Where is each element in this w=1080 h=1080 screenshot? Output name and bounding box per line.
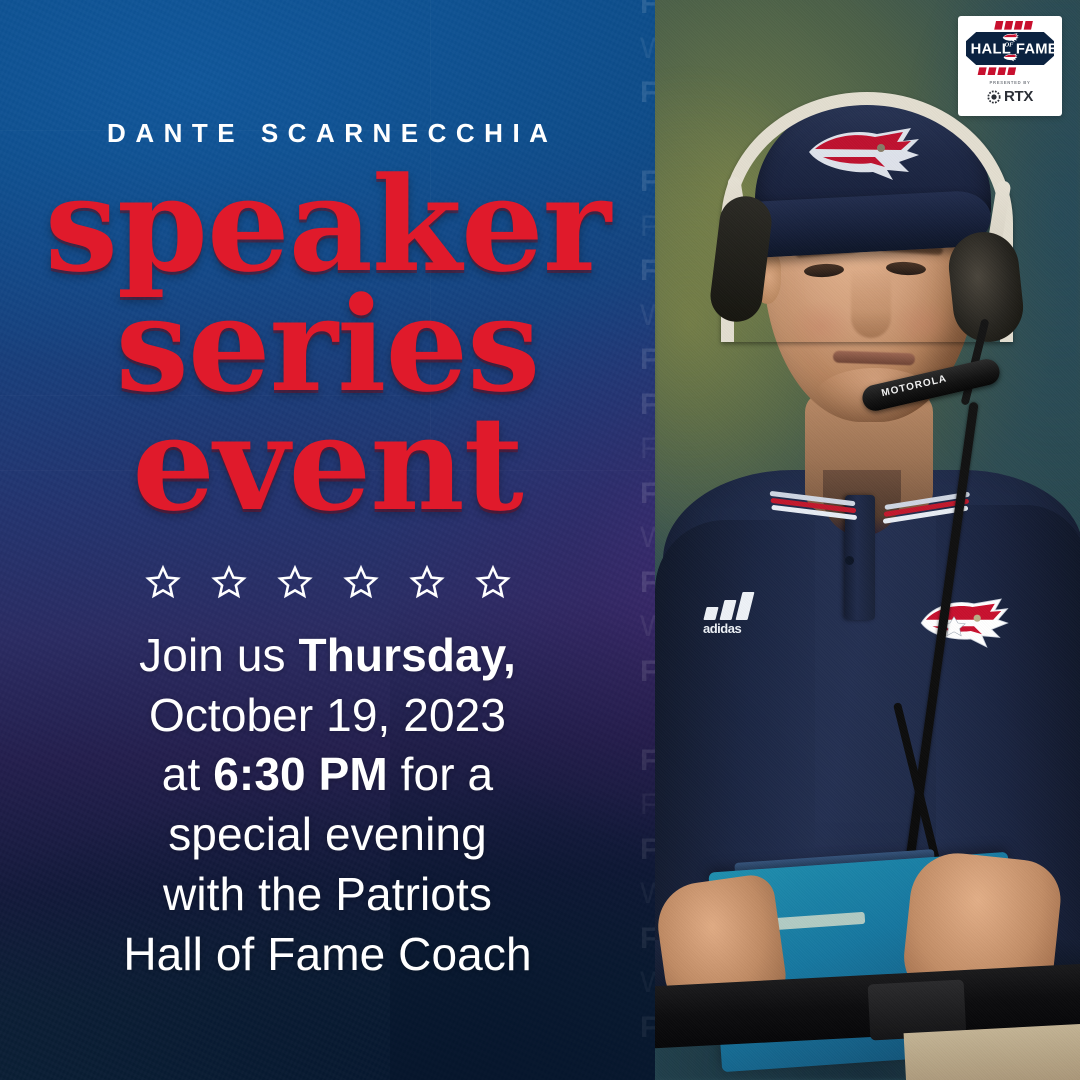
- badge-of-text: OF: [1005, 42, 1015, 49]
- hall-of-fame-badge-icon: HALL OF FAME: [960, 20, 1060, 78]
- details-time: 6:30 PM: [213, 748, 388, 800]
- page-title: speaker series event: [45, 165, 610, 524]
- details-at: at: [162, 748, 213, 800]
- star-outline-icon: [409, 564, 445, 600]
- star-outline-icon: [145, 564, 181, 600]
- details-line-6: Hall of Fame Coach: [123, 925, 531, 985]
- star-outline-icon: [475, 564, 511, 600]
- presented-by-label: PRESENTED BY: [990, 80, 1031, 85]
- details-weekday: Thursday,: [299, 629, 516, 681]
- coach-photo: adidas: [655, 0, 1080, 1080]
- poster-content: DANTE SCARNECCHIA speaker series event J…: [0, 0, 655, 1080]
- rtx-gear-icon: [987, 90, 1001, 104]
- details-join-us: Join us: [139, 629, 298, 681]
- details-line-5: with the Patriots: [123, 865, 531, 925]
- headline-line-3: event: [45, 404, 610, 524]
- speaker-name: DANTE SCARNECCHIA: [98, 118, 558, 149]
- rtx-wordmark: RTX: [1004, 88, 1033, 105]
- event-details: Join us Thursday, October 19, 2023 at 6:…: [123, 626, 531, 985]
- hall-of-fame-logo[interactable]: HALL OF FAME PRESENTED BY RTX: [958, 16, 1062, 116]
- details-for-a: for a: [388, 748, 493, 800]
- star-divider: [145, 564, 511, 600]
- star-outline-icon: [277, 564, 313, 600]
- photo-grain: [655, 0, 1080, 1080]
- badge-fame-text: FAME: [1016, 41, 1058, 57]
- speaker-series-poster: FOR OUR COMMUNITYWE ARE FOR TRADITIONFOR…: [0, 0, 1080, 1080]
- rtx-lockup: RTX: [987, 88, 1033, 105]
- star-outline-icon: [343, 564, 379, 600]
- details-line-4: special evening: [123, 805, 531, 865]
- details-line-3: at 6:30 PM for a: [123, 745, 531, 805]
- star-outline-icon: [211, 564, 247, 600]
- details-line-2: October 19, 2023: [123, 686, 531, 746]
- details-line-1: Join us Thursday,: [123, 626, 531, 686]
